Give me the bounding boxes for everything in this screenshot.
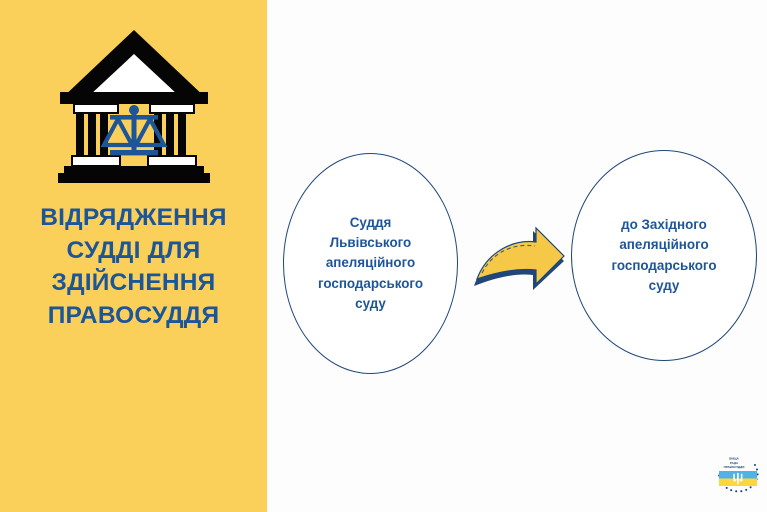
source-line-1: Суддя [318,213,423,233]
headline-line-1: ВІДРЯДЖЕННЯ [5,202,263,235]
right-white-panel: Суддя Львівського апеляційного господарс… [267,0,767,512]
target-line-1: до Західного [611,215,716,235]
courthouse-with-scales-icon [58,26,210,188]
target-line-3: господарського [611,256,716,276]
source-line-5: суду [318,294,423,314]
page-title: ВІДРЯДЖЕННЯ СУДДІ ДЛЯ ЗДІЙСНЕННЯ ПРАВОСУ… [5,202,263,332]
target-line-2: апеляційного [611,235,716,255]
logo-line-3: ПРАВОСУДДЯ [724,465,745,469]
high-council-of-justice-logo: ВИЩА РАДА ПРАВОСУДДЯ [706,446,762,502]
source-line-4: господарського [318,274,423,294]
poster-canvas: ВІДРЯДЖЕННЯ СУДДІ ДЛЯ ЗДІЙСНЕННЯ ПРАВОСУ… [0,0,767,512]
source-line-2: Львівського [318,233,423,253]
source-court-label: Суддя Львівського апеляційного господарс… [308,213,433,315]
source-court-bubble: Суддя Львівського апеляційного господарс… [283,153,458,374]
headline-line-4: ПРАВОСУДДЯ [5,300,263,333]
source-line-3: апеляційного [318,253,423,273]
left-yellow-panel: ВІДРЯДЖЕННЯ СУДДІ ДЛЯ ЗДІЙСНЕННЯ ПРАВОСУ… [0,0,267,512]
target-line-4: суду [611,276,716,296]
headline-line-3: ЗДІЙСНЕННЯ [5,267,263,300]
headline-line-2: СУДДІ ДЛЯ [5,235,263,268]
curved-right-arrow-icon [471,222,567,306]
target-court-bubble: до Західного апеляційного господарського… [571,150,757,361]
target-court-label: до Західного апеляційного господарського… [601,215,726,297]
